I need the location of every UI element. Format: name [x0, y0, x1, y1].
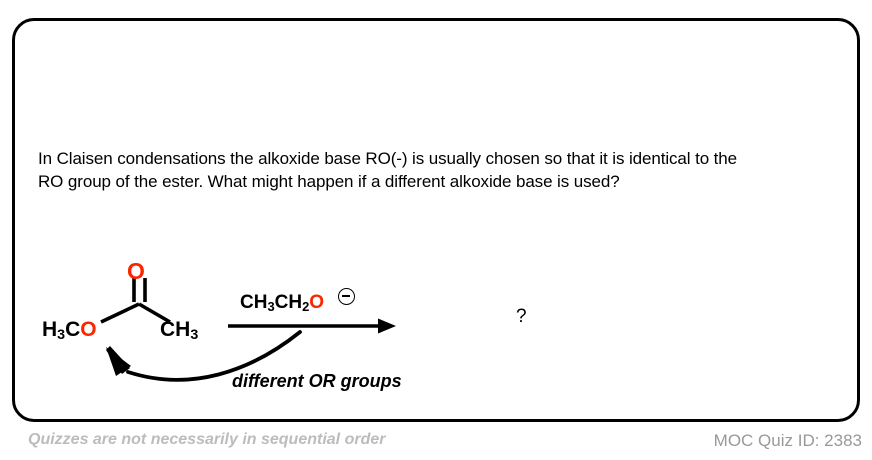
product-unknown-label: ? [516, 306, 527, 328]
ester-right-sub: 3 [190, 327, 198, 343]
reagent-sub-1: 3 [267, 299, 274, 314]
ester-left-oxygen: O [80, 318, 96, 341]
ester-left-c: C [65, 318, 80, 341]
ester-alkoxy-label: H3CO [42, 318, 97, 343]
quiz-slide: In Claisen condensations the alkoxide ba… [0, 0, 872, 460]
reagent-ch-2: CH [275, 292, 302, 313]
ester-methyl-label: CH3 [160, 318, 198, 343]
carbonyl-oxygen-label: O [127, 258, 145, 285]
ester-left-h: H [42, 318, 57, 341]
footer-quiz-id: MOC Quiz ID: 2383 [714, 431, 862, 451]
quiz-card-border [12, 18, 860, 422]
annotation-different-or-groups: different OR groups [232, 371, 402, 392]
footer-note: Quizzes are not necessarily in sequentia… [28, 431, 385, 449]
reagent-ethoxide-label: CH3CH2O [240, 292, 324, 314]
ester-left-h-sub: 3 [57, 327, 65, 343]
reagent-ch-1: CH [240, 292, 267, 313]
ester-right-ch: CH [160, 318, 190, 341]
negative-charge-icon [338, 288, 355, 305]
reagent-oxygen: O [309, 292, 324, 313]
question-prompt: In Claisen condensations the alkoxide ba… [38, 148, 738, 193]
